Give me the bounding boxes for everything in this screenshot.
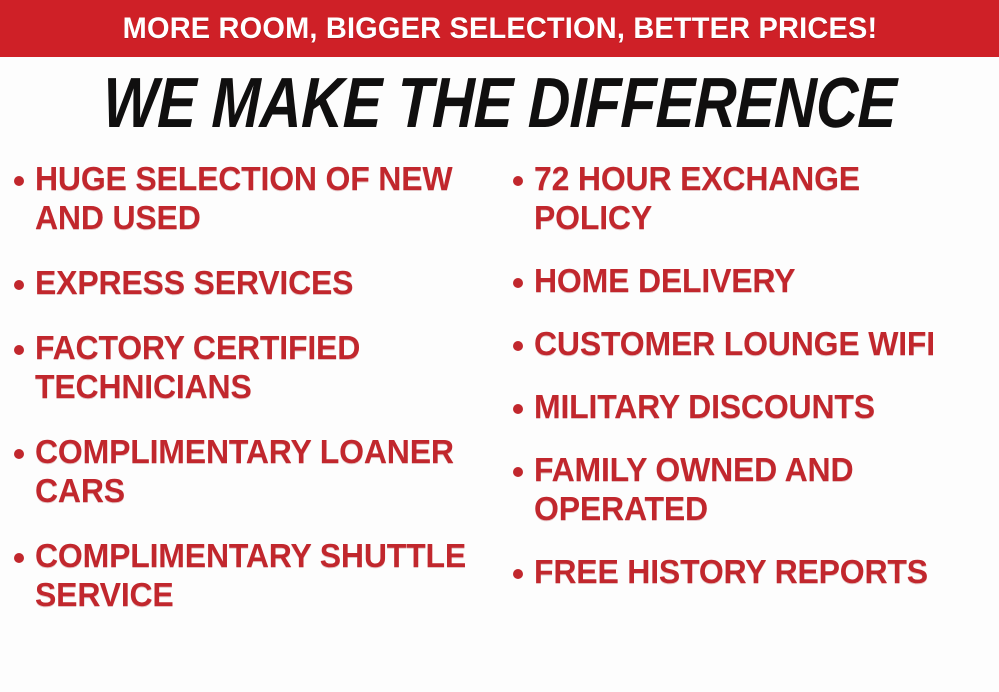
list-item: HOME DELIVERY	[513, 262, 999, 301]
list-item: EXPRESS SERVICES	[14, 264, 505, 303]
list-item-label: EXPRESS SERVICES	[35, 264, 353, 303]
list-item: 72 HOUR EXCHANGE POLICY	[513, 160, 999, 238]
list-item: COMPLIMENTARY SHUTTLE SERVICE	[14, 537, 505, 615]
bullet-dot-icon	[513, 341, 523, 351]
bullet-dot-icon	[14, 176, 24, 186]
list-item: FAMILY OWNED AND OPERATED	[513, 451, 999, 529]
list-item-label: FACTORY CERTIFIED TECHNICIANS	[35, 329, 491, 407]
list-item-label: FAMILY OWNED AND OPERATED	[534, 451, 985, 529]
list-item: CUSTOMER LOUNGE WIFI	[513, 325, 999, 364]
list-item-label: COMPLIMENTARY SHUTTLE SERVICE	[35, 537, 491, 615]
top-promo-banner: MORE ROOM, BIGGER SELECTION, BETTER PRIC…	[0, 0, 999, 57]
list-item-label: HUGE SELECTION OF NEW AND USED	[35, 160, 491, 238]
features-column-right: 72 HOUR EXCHANGE POLICY HOME DELIVERY CU…	[505, 160, 999, 616]
bullet-dot-icon	[513, 467, 523, 477]
list-item: FACTORY CERTIFIED TECHNICIANS	[14, 329, 505, 407]
advertisement-banner: MORE ROOM, BIGGER SELECTION, BETTER PRIC…	[0, 0, 999, 692]
promo-banner-text: MORE ROOM, BIGGER SELECTION, BETTER PRIC…	[122, 14, 877, 44]
bullet-dot-icon	[513, 569, 523, 579]
list-item-label: MILITARY DISCOUNTS	[534, 388, 875, 427]
list-item-label: HOME DELIVERY	[534, 262, 795, 301]
features-column-left: HUGE SELECTION OF NEW AND USED EXPRESS S…	[0, 160, 505, 640]
bullet-dot-icon	[513, 404, 523, 414]
bullet-dot-icon	[513, 278, 523, 288]
list-item: COMPLIMENTARY LOANER CARS	[14, 433, 505, 511]
bullet-dot-icon	[14, 280, 24, 290]
bullet-dot-icon	[14, 449, 24, 459]
features-columns: HUGE SELECTION OF NEW AND USED EXPRESS S…	[0, 160, 999, 692]
list-item: MILITARY DISCOUNTS	[513, 388, 999, 427]
list-item-label: COMPLIMENTARY LOANER CARS	[35, 433, 491, 511]
list-item: FREE HISTORY REPORTS	[513, 553, 999, 592]
list-item-label: CUSTOMER LOUNGE WIFI	[534, 325, 935, 364]
page-title: WE MAKE THE DIFFERENCE	[102, 68, 897, 139]
bullet-dot-icon	[14, 553, 24, 563]
list-item-label: 72 HOUR EXCHANGE POLICY	[534, 160, 985, 238]
headline-container: WE MAKE THE DIFFERENCE	[0, 62, 999, 144]
list-item: HUGE SELECTION OF NEW AND USED	[14, 160, 505, 238]
list-item-label: FREE HISTORY REPORTS	[534, 553, 928, 592]
bullet-dot-icon	[513, 176, 523, 186]
bullet-dot-icon	[14, 345, 24, 355]
